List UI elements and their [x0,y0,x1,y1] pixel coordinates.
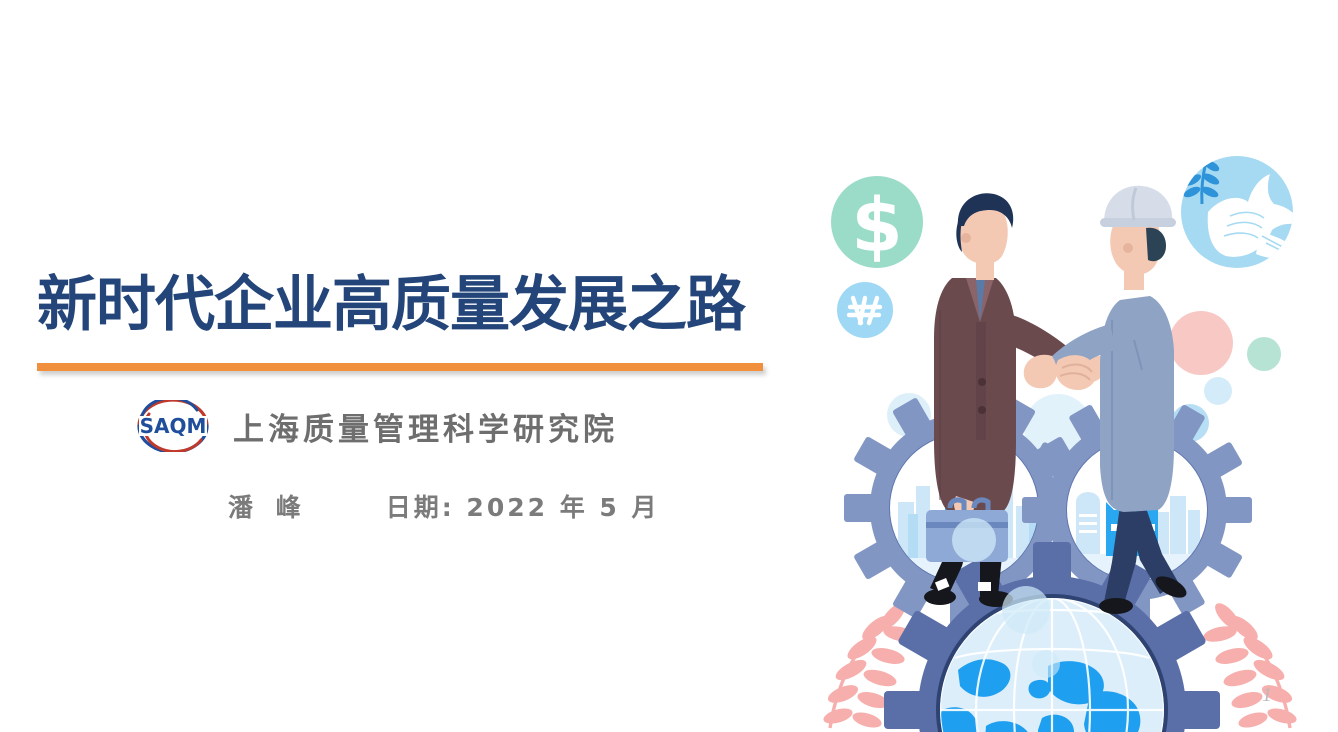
dove-badge-icon [1181,156,1302,268]
presentation-slide: 新时代企业高质量发展之路 SAQM 上海质量管理科学研究院 潘 峰 [0,0,1338,732]
title-block: 新时代企业高质量发展之路 [37,272,777,339]
page-number: 1 [1262,684,1272,707]
page-title: 新时代企业高质量发展之路 [37,272,777,339]
presenter-name: 潘 峰 [228,488,308,524]
svg-text:$: $ [851,183,903,269]
organization-name: 上海质量管理科学研究院 [233,404,618,449]
saqm-wordmark: SAQM [140,414,207,438]
byline: 潘 峰 日期: 2022 年 5 月 [228,488,660,524]
won-badge-icon [837,282,893,338]
presentation-date: 日期: 2022 年 5 月 [386,488,660,524]
title-underline-bar [37,363,763,371]
saqm-logo-icon: SAQM [131,400,215,452]
cover-illustration: $ [790,110,1338,732]
organization-line: SAQM 上海质量管理科学研究院 [131,400,618,452]
dollar-badge-icon: $ [831,176,923,269]
title-underline-wrap [37,363,763,375]
